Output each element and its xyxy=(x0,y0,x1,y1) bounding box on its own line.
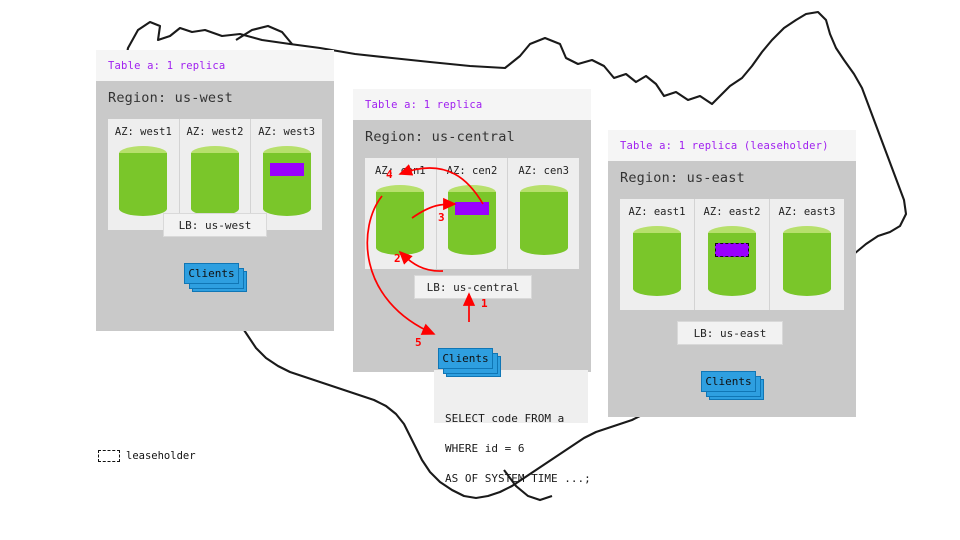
node-cylinder-east3[interactable] xyxy=(783,226,831,296)
clients-label: Clients xyxy=(188,267,234,280)
az-label: AZ: east2 xyxy=(704,206,761,218)
az-label: AZ: cen2 xyxy=(447,165,498,177)
az-label: AZ: west3 xyxy=(258,126,315,138)
az-cell-east1[interactable]: AZ: east1 xyxy=(620,199,695,310)
node-cylinder-cen2[interactable] xyxy=(448,185,496,255)
region-header-label: Table a: 1 replica (leaseholder) xyxy=(620,140,829,152)
region-body-us-west: Region: us-west AZ: west1 AZ: west2 xyxy=(96,81,334,331)
cylinder-bottom xyxy=(448,240,496,255)
load-balancer-label: LB: us-east xyxy=(694,327,767,340)
load-balancer-label: LB: us-west xyxy=(179,219,252,232)
cylinder-bottom xyxy=(263,201,311,216)
cylinder-bottom xyxy=(708,281,756,296)
region-header-us-west: Table a: 1 replica xyxy=(96,50,334,81)
az-cell-cen2[interactable]: AZ: cen2 xyxy=(437,158,509,269)
flow-step-2: 2 xyxy=(394,252,401,265)
az-label: AZ: east3 xyxy=(779,206,836,218)
az-label: AZ: cen1 xyxy=(375,165,426,177)
legend-leaseholder: leaseholder xyxy=(98,450,196,462)
node-cylinder-cen1[interactable] xyxy=(376,185,424,255)
region-body-us-central: Region: us-central AZ: cen1 AZ: cen2 xyxy=(353,120,591,372)
replica-block-west3[interactable] xyxy=(270,163,304,176)
region-header-label: Table a: 1 replica xyxy=(108,60,225,72)
flow-step-1: 1 xyxy=(481,297,488,310)
cylinder-bottom xyxy=(633,281,681,296)
az-label: AZ: west1 xyxy=(115,126,172,138)
clients-front[interactable]: Clients xyxy=(184,263,239,284)
load-balancer-us-west[interactable]: LB: us-west xyxy=(163,213,267,237)
node-cylinder-east1[interactable] xyxy=(633,226,681,296)
sql-line-3: AS OF SYSTEM TIME ...; xyxy=(445,471,588,486)
az-label: AZ: east1 xyxy=(629,206,686,218)
flow-step-5: 5 xyxy=(415,336,422,349)
clients-stack-us-central[interactable]: Clients xyxy=(438,348,502,378)
region-panel-us-central: Table a: 1 replica Region: us-central AZ… xyxy=(353,89,591,372)
az-cell-cen1[interactable]: AZ: cen1 xyxy=(365,158,437,269)
replica-block-cen2[interactable] xyxy=(455,202,489,215)
node-cylinder-west3[interactable] xyxy=(263,146,311,216)
clients-front[interactable]: Clients xyxy=(701,371,756,392)
node-cylinder-west1[interactable] xyxy=(119,146,167,216)
region-title-us-west: Region: us-west xyxy=(96,81,334,106)
flow-step-4: 4 xyxy=(386,168,393,181)
cylinder-bottom xyxy=(119,201,167,216)
region-header-us-east: Table a: 1 replica (leaseholder) xyxy=(608,130,856,161)
flow-step-3: 3 xyxy=(438,211,445,224)
sql-line-2: WHERE id = 6 xyxy=(445,441,588,456)
clients-label: Clients xyxy=(442,352,488,365)
load-balancer-us-east[interactable]: LB: us-east xyxy=(677,321,783,345)
region-body-us-east: Region: us-east AZ: east1 AZ: east2 xyxy=(608,161,856,417)
region-title-us-central: Region: us-central xyxy=(353,120,591,145)
region-title-us-east: Region: us-east xyxy=(608,161,856,186)
replica-block-east2-leaseholder[interactable] xyxy=(715,243,749,257)
region-panel-us-west: Table a: 1 replica Region: us-west AZ: w… xyxy=(96,50,334,331)
clients-stack-us-east[interactable]: Clients xyxy=(701,371,765,401)
clients-front[interactable]: Clients xyxy=(438,348,493,369)
load-balancer-us-central[interactable]: LB: us-central xyxy=(414,275,532,299)
cylinder-bottom xyxy=(520,240,568,255)
node-cylinder-west2[interactable] xyxy=(191,146,239,216)
leaseholder-swatch-icon xyxy=(98,450,120,462)
az-row-us-east: AZ: east1 AZ: east2 xyxy=(620,199,844,310)
diagram-stage: 1 2 3 4 5 Table a: 1 replica Region: us-… xyxy=(0,0,960,540)
legend-label: leaseholder xyxy=(126,450,196,462)
sql-line-1: SELECT code FROM a xyxy=(445,411,588,426)
region-panel-us-east: Table a: 1 replica (leaseholder) Region:… xyxy=(608,130,856,417)
az-label: AZ: cen3 xyxy=(518,165,569,177)
load-balancer-label: LB: us-central xyxy=(427,281,520,294)
az-cell-cen3[interactable]: AZ: cen3 xyxy=(508,158,579,269)
az-cell-east2[interactable]: AZ: east2 xyxy=(695,199,770,310)
region-header-us-central: Table a: 1 replica xyxy=(353,89,591,120)
az-label: AZ: west2 xyxy=(187,126,244,138)
node-cylinder-cen3[interactable] xyxy=(520,185,568,255)
cylinder-bottom xyxy=(783,281,831,296)
az-cell-east3[interactable]: AZ: east3 xyxy=(770,199,844,310)
clients-label: Clients xyxy=(705,375,751,388)
node-cylinder-east2[interactable] xyxy=(708,226,756,296)
region-header-label: Table a: 1 replica xyxy=(365,99,482,111)
clients-stack-us-west[interactable]: Clients xyxy=(184,263,248,293)
